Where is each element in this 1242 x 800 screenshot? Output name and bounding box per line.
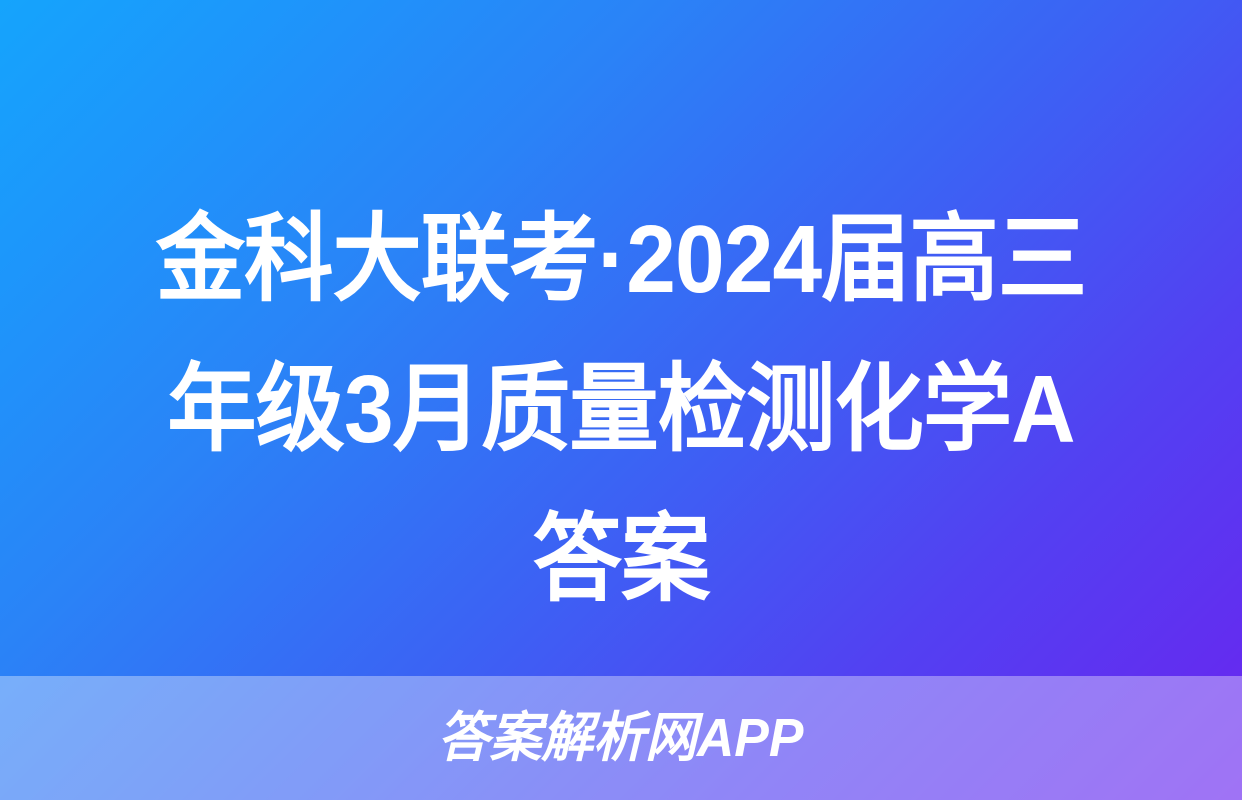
title-line-3: 答案: [81, 485, 1162, 635]
answer-cover-card: 金科大联考·2024届高三 年级3月质量检测化学A 答案 答案解析网APP: [0, 0, 1242, 800]
watermark-band: 答案解析网APP: [0, 676, 1242, 800]
page-title: 金科大联考·2024届高三 年级3月质量检测化学A 答案: [0, 185, 1242, 635]
title-line-1: 金科大联考·2024届高三: [81, 185, 1162, 335]
watermark-label: 答案解析网APP: [438, 711, 804, 765]
title-line-2: 年级3月质量检测化学A: [81, 335, 1162, 485]
